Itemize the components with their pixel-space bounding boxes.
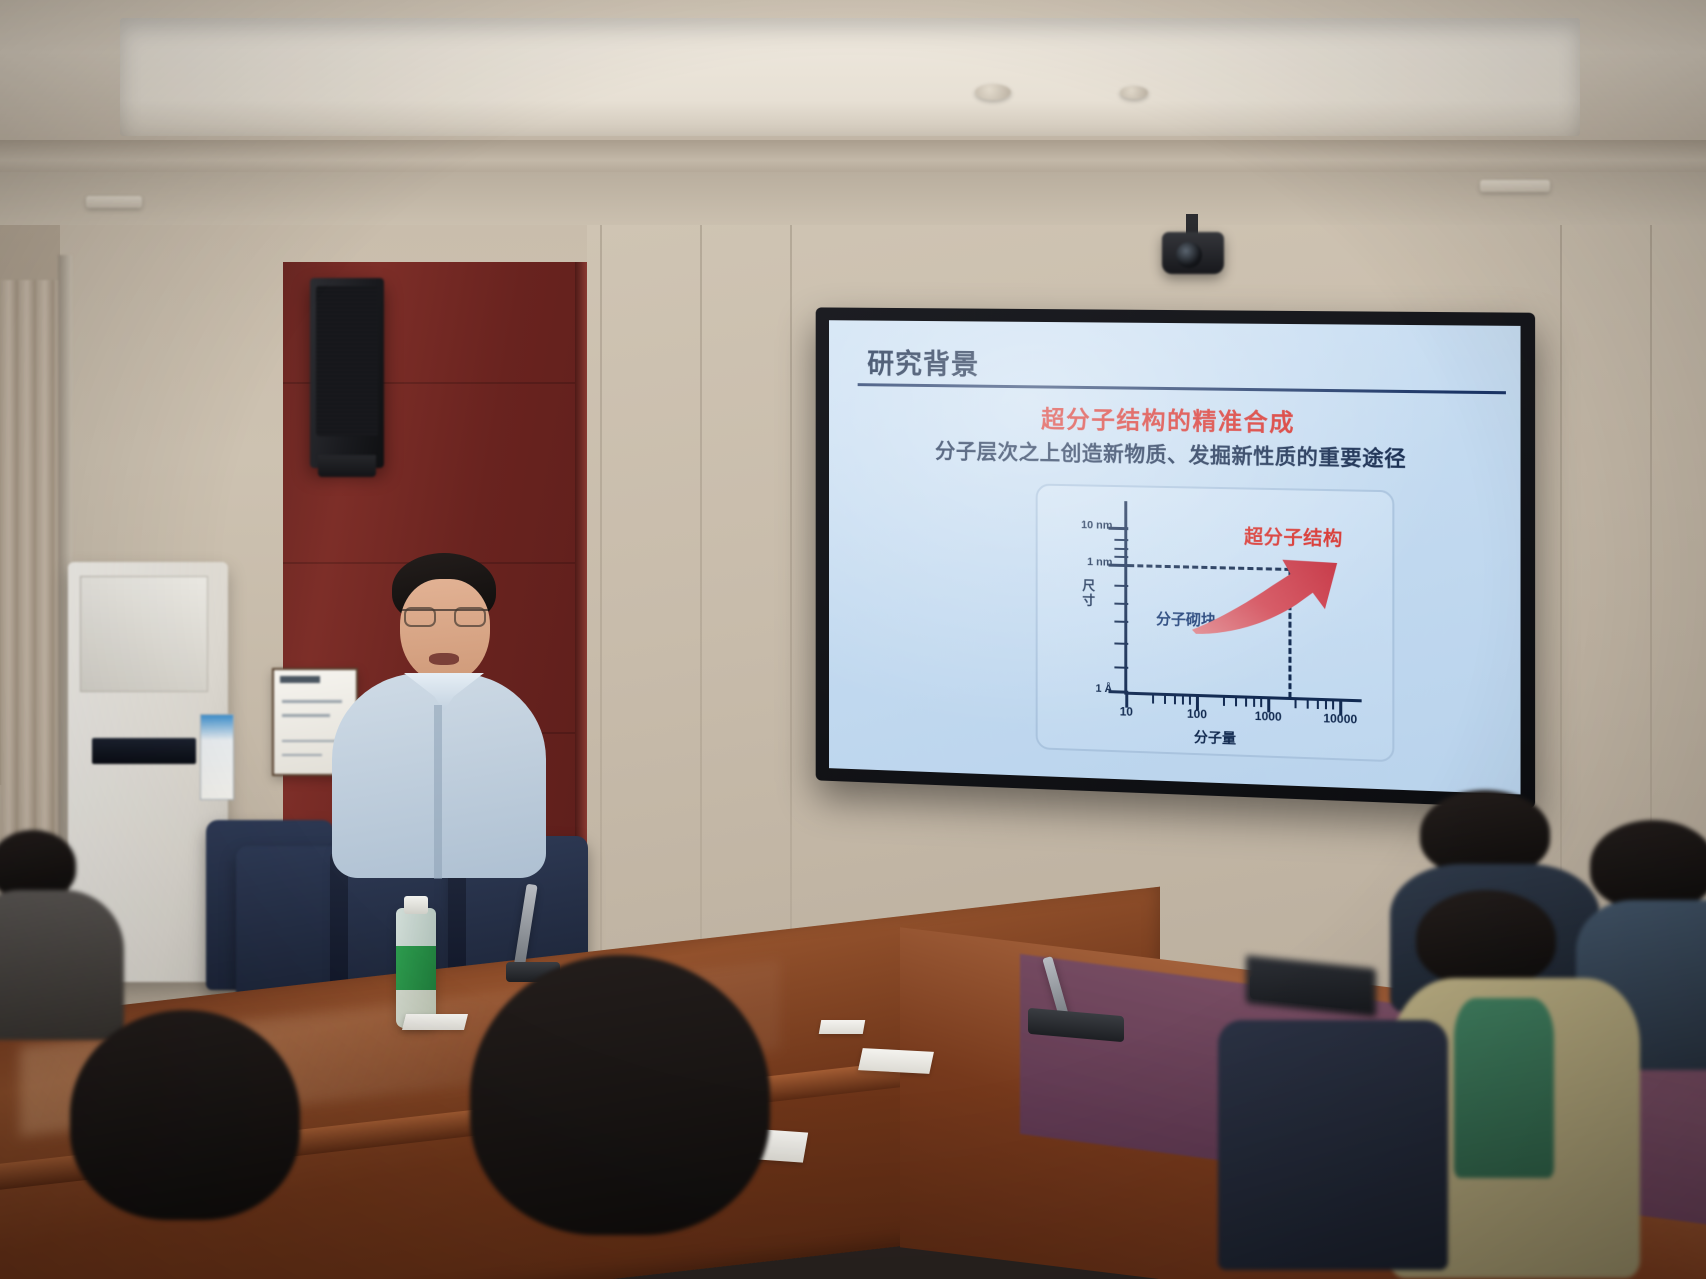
presenter-placket: [434, 705, 442, 879]
ac-display-panel: [92, 738, 196, 764]
ceiling-cove-light: [120, 18, 1580, 136]
audience-member: [470, 955, 790, 1279]
name-card: [402, 1014, 468, 1030]
slide-surface: 研究背景 超分子结构的精准合成 分子层次之上创造新物质、发掘新性质的重要途径 尺…: [829, 320, 1520, 794]
ceiling-soffit: [0, 172, 1706, 232]
wall-speaker: [310, 278, 384, 468]
smoke-detector-icon: [975, 84, 1011, 100]
bottle-cap: [404, 896, 428, 914]
standing-presenter: [330, 545, 550, 875]
presenter-glasses-lens: [454, 607, 486, 627]
photo-scene: 研究背景 超分子结构的精准合成 分子层次之上创造新物质、发掘新性质的重要途径 尺…: [0, 0, 1706, 1279]
ceiling-edge: [0, 140, 1706, 174]
ceiling-vent: [1480, 180, 1550, 192]
bottle-label: [396, 946, 436, 990]
window-curtain: [0, 280, 62, 840]
audience-member: [60, 1010, 320, 1279]
audience-member: [1218, 1020, 1478, 1279]
smoke-detector-icon: [1120, 86, 1148, 99]
ac-energy-label: [200, 714, 234, 800]
ac-grille-icon: [80, 576, 208, 692]
wall-seam: [600, 225, 602, 1055]
presenter-mouth: [429, 653, 459, 665]
presenter-glasses-lens: [404, 607, 436, 627]
audience-hair: [470, 955, 770, 1235]
audience-chair-back: [1218, 1020, 1448, 1270]
screen-glare: [829, 320, 1520, 794]
audience-member: [0, 820, 120, 1020]
name-card: [858, 1048, 934, 1074]
ceiling-camera: [1162, 232, 1224, 274]
audience-hair: [1416, 890, 1556, 986]
speaker-base: [318, 455, 376, 477]
ceiling-vent: [86, 196, 142, 208]
wall-seam: [700, 225, 702, 1055]
camera-lens-icon: [1176, 242, 1202, 268]
speaker-grille-icon: [316, 286, 378, 436]
notice-text-line: [282, 754, 322, 756]
name-card: [819, 1020, 865, 1034]
audience-hair: [70, 1010, 300, 1220]
notice-title-bar: [280, 676, 320, 683]
notice-text-line: [282, 714, 330, 717]
presenter-face: [400, 579, 490, 683]
wall-display[interactable]: 研究背景 超分子结构的精准合成 分子层次之上创造新物质、发掘新性质的重要途径 尺…: [816, 307, 1535, 808]
